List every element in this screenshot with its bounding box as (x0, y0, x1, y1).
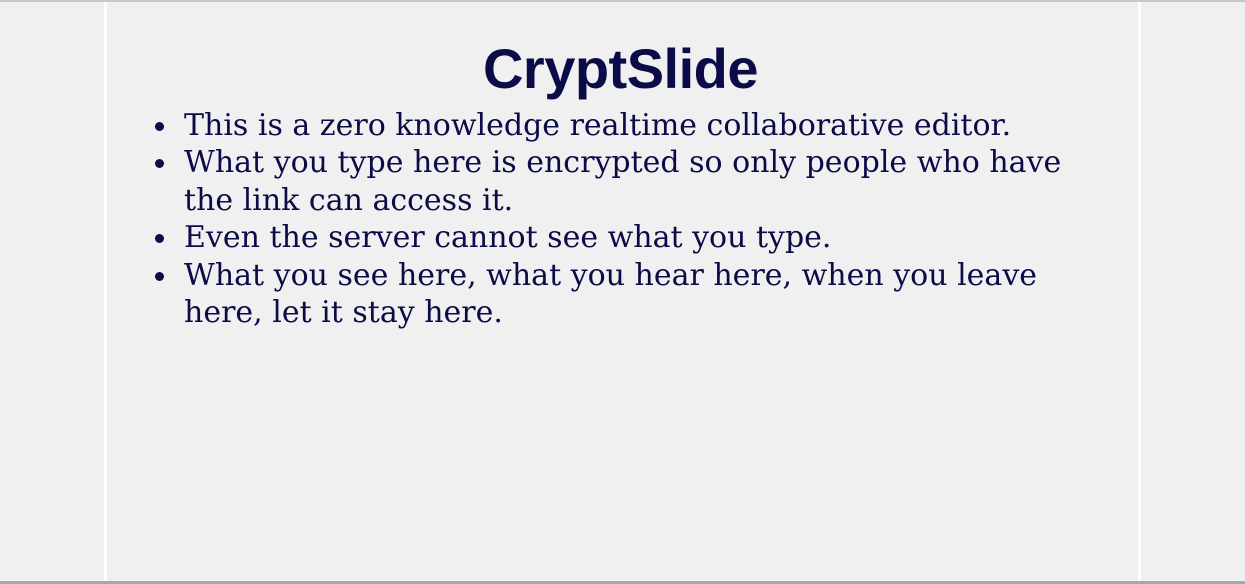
bullet-dot-icon (155, 122, 164, 131)
list-item-text: This is a zero knowledge realtime collab… (184, 107, 1090, 145)
list-item[interactable]: What you see here, what you hear here, w… (151, 257, 1090, 332)
bullet-dot-icon (155, 159, 164, 168)
list-item[interactable]: What you type here is encrypted so only … (151, 144, 1090, 219)
list-item[interactable]: This is a zero knowledge realtime collab… (151, 107, 1090, 145)
list-item-text: What you type here is encrypted so only … (184, 144, 1090, 219)
slide-canvas[interactable]: CryptSlide This is a zero knowledge real… (107, 2, 1138, 581)
slide-content: CryptSlide This is a zero knowledge real… (107, 2, 1138, 332)
bullet-dot-icon (155, 234, 164, 243)
slide-bullet-list: This is a zero knowledge realtime collab… (151, 107, 1090, 332)
list-item-text: Even the server cannot see what you type… (184, 219, 1090, 257)
bullet-dot-icon (155, 272, 164, 281)
page-root: CryptSlide This is a zero knowledge real… (0, 0, 1245, 584)
slide-right-gutter (1138, 2, 1141, 581)
list-item[interactable]: Even the server cannot see what you type… (151, 219, 1090, 257)
slide-title[interactable]: CryptSlide (151, 38, 1090, 101)
list-item-text: What you see here, what you hear here, w… (184, 257, 1090, 332)
